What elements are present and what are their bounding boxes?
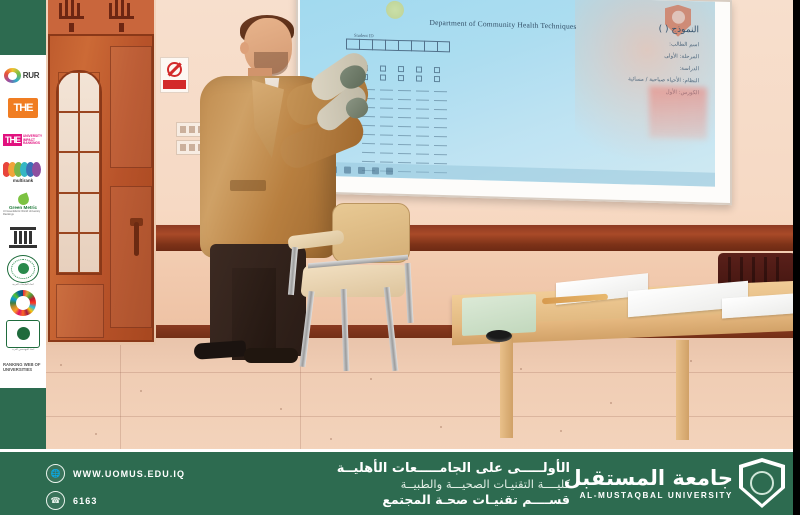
ranking-logo-sdg bbox=[3, 287, 43, 318]
bottom-left-green-block bbox=[0, 388, 46, 452]
slide-red-highlight bbox=[649, 86, 707, 140]
footer-phone: 6163 bbox=[73, 496, 97, 506]
brand-name-arabic: جامعة المستقبل bbox=[564, 466, 733, 490]
footer-contact-block: 🌐 WWW.UOMUS.EDU.IQ ☎ 6163 bbox=[46, 464, 185, 510]
ear bbox=[240, 42, 249, 54]
the-impact-mark: THE bbox=[3, 134, 22, 146]
desk-leg bbox=[500, 330, 513, 438]
webometrics-label: RANKING WEB OF UNIVERSITIES bbox=[3, 362, 43, 372]
wooden-door[interactable] bbox=[48, 34, 154, 342]
multirank-label: multirank bbox=[13, 178, 33, 183]
footer-tagline-3: قســــم تقنيـات صحـة المجتمع bbox=[250, 492, 570, 508]
sdg-wheel-icon bbox=[10, 290, 36, 316]
ranking-logo-arab-engineers: اتحاد المهندسين العرب bbox=[3, 320, 43, 351]
footer-brand-block: جامعة المستقبل AL-MUSTAQBAL UNIVERSITY bbox=[564, 458, 785, 508]
arab-union-caption: اتحاد الجامعات العربية bbox=[12, 283, 34, 286]
www-globe-icon: 🌐 bbox=[46, 464, 65, 483]
sign-text-band bbox=[163, 80, 186, 89]
the-label: THE bbox=[8, 98, 38, 118]
ranking-logo-multirank: multirank bbox=[3, 157, 43, 188]
greenmetric-sub: UI GreenMetric World University Rankings bbox=[3, 210, 43, 216]
right-black-border bbox=[793, 0, 800, 515]
ranking-logo-greenmetric: Green Metric UI GreenMetric World Univer… bbox=[3, 190, 43, 221]
no-smoking-sign bbox=[160, 57, 189, 93]
grille-ornament-icon bbox=[56, 2, 86, 32]
university-shield-icon bbox=[739, 458, 785, 508]
slide-field-stage: المرحلة: الأولى bbox=[524, 49, 699, 60]
rankings-logo-strip: RUR THE THE UNIVERSITY IMPACT RANKINGS m… bbox=[0, 55, 46, 388]
footer-banner: 🌐 WWW.UOMUS.EDU.IQ ☎ 6163 الأولـــــى عل… bbox=[0, 452, 793, 515]
door-handle[interactable] bbox=[134, 222, 139, 256]
footer-website-row[interactable]: 🌐 WWW.UOMUS.EDU.IQ bbox=[46, 464, 185, 483]
ranking-logo-the-impact: THE UNIVERSITY IMPACT RANKINGS bbox=[3, 125, 43, 156]
multirank-arcs-icon bbox=[5, 162, 41, 177]
chair-backrest bbox=[332, 203, 410, 263]
ranking-logo-arab-union: اتحاد الجامعات العربية bbox=[3, 255, 43, 286]
slide-field-system: النظام: الأحياء صباحية / مسائية bbox=[524, 73, 699, 84]
rur-eye-icon bbox=[4, 68, 21, 83]
chair-seat bbox=[300, 265, 407, 297]
brand-text: جامعة المستقبل AL-MUSTAQBAL UNIVERSITY bbox=[564, 466, 733, 500]
footer-website: WWW.UOMUS.EDU.IQ bbox=[73, 469, 185, 479]
arab-engineers-caption: اتحاد المهندسين العرب bbox=[12, 348, 35, 351]
top-left-green-block bbox=[0, 0, 46, 55]
photo-area: Department of Community Health Technique… bbox=[0, 0, 793, 452]
ranking-logo-pillars bbox=[3, 222, 43, 253]
desk-leg bbox=[676, 340, 689, 440]
phone-icon: ☎ bbox=[46, 491, 65, 510]
ranking-logo-rur: RUR bbox=[3, 60, 43, 91]
footer-top-divider bbox=[0, 449, 793, 452]
ranking-logo-webometrics: RANKING WEB OF UNIVERSITIES bbox=[3, 352, 43, 383]
slide-field-study: الدراسة: bbox=[524, 61, 699, 72]
door-transom-grille bbox=[48, 0, 154, 37]
cup-top bbox=[486, 330, 512, 342]
ranking-logo-the: THE bbox=[3, 92, 43, 123]
footer-tagline-1: الأولـــــى على الجامـــــعات الأهليــة bbox=[250, 461, 570, 477]
footer-tagline-block: الأولـــــى على الجامـــــعات الأهليــة … bbox=[250, 461, 570, 508]
lecture-chair bbox=[288, 203, 418, 373]
slide-field-student-name: اسم الطالب: bbox=[524, 37, 699, 48]
the-impact-sub: UNIVERSITY IMPACT RANKINGS bbox=[23, 135, 43, 146]
brand-name-english: AL-MUSTAQBAL UNIVERSITY bbox=[564, 491, 733, 500]
blazer-pocket bbox=[230, 180, 266, 191]
footer-tagline-2: كليــــة التقنيـات الصحيـــة والطبيــة bbox=[250, 477, 570, 492]
arab-union-seal-icon bbox=[7, 255, 39, 283]
grille-ornament-icon bbox=[106, 2, 136, 32]
screenshot-root: Department of Community Health Technique… bbox=[0, 0, 800, 515]
rur-label: RUR bbox=[23, 71, 39, 80]
arab-engineers-seal-icon bbox=[6, 320, 40, 348]
footer-phone-row[interactable]: ☎ 6163 bbox=[46, 491, 185, 510]
door-glass-panes bbox=[56, 70, 102, 275]
